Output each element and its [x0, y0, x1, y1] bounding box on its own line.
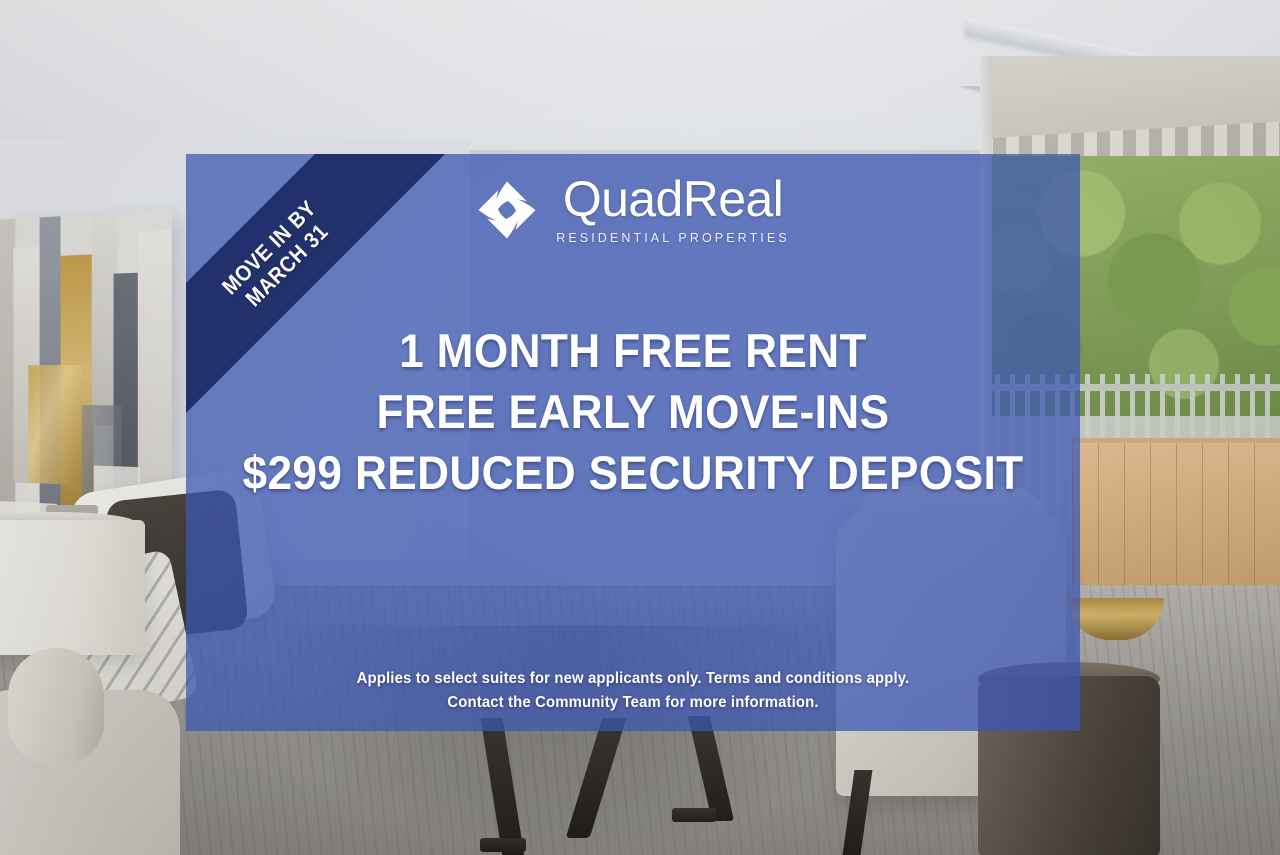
offer-line-2: FREE EARLY MOVE-INS	[213, 381, 1053, 442]
promo-banner: MOVE IN BY MARCH 31 QuadReal RESIDENTIAL…	[0, 0, 1280, 855]
offer-line-3: $299 REDUCED SECURITY DEPOSIT	[213, 442, 1053, 503]
offer-line-1: 1 MONTH FREE RENT	[213, 320, 1053, 381]
promo-overlay-panel: MOVE IN BY MARCH 31 QuadReal RESIDENTIAL…	[186, 154, 1080, 731]
logo-subtitle: RESIDENTIAL PROPERTIES	[556, 231, 790, 245]
wood-privacy-fence	[1072, 438, 1280, 608]
table-foot	[672, 808, 716, 822]
logo-wordmark: QuadReal	[563, 174, 783, 224]
table-foot	[480, 838, 526, 852]
quadreal-logo: QuadReal RESIDENTIAL PROPERTIES	[186, 174, 1080, 245]
lamp-shade	[0, 520, 145, 655]
lamp-base	[8, 648, 104, 763]
logo-wordmark-block: QuadReal RESIDENTIAL PROPERTIES	[556, 174, 790, 245]
quadreal-diamond-pinwheel-icon	[476, 179, 538, 241]
disclaimer-line-2: Contact the Community Team for more info…	[204, 691, 1062, 715]
offer-headlines: 1 MONTH FREE RENT FREE EARLY MOVE-INS $2…	[186, 320, 1080, 503]
disclaimer-line-1: Applies to select suites for new applica…	[204, 667, 1062, 691]
disclaimer: Applies to select suites for new applica…	[204, 667, 1062, 715]
